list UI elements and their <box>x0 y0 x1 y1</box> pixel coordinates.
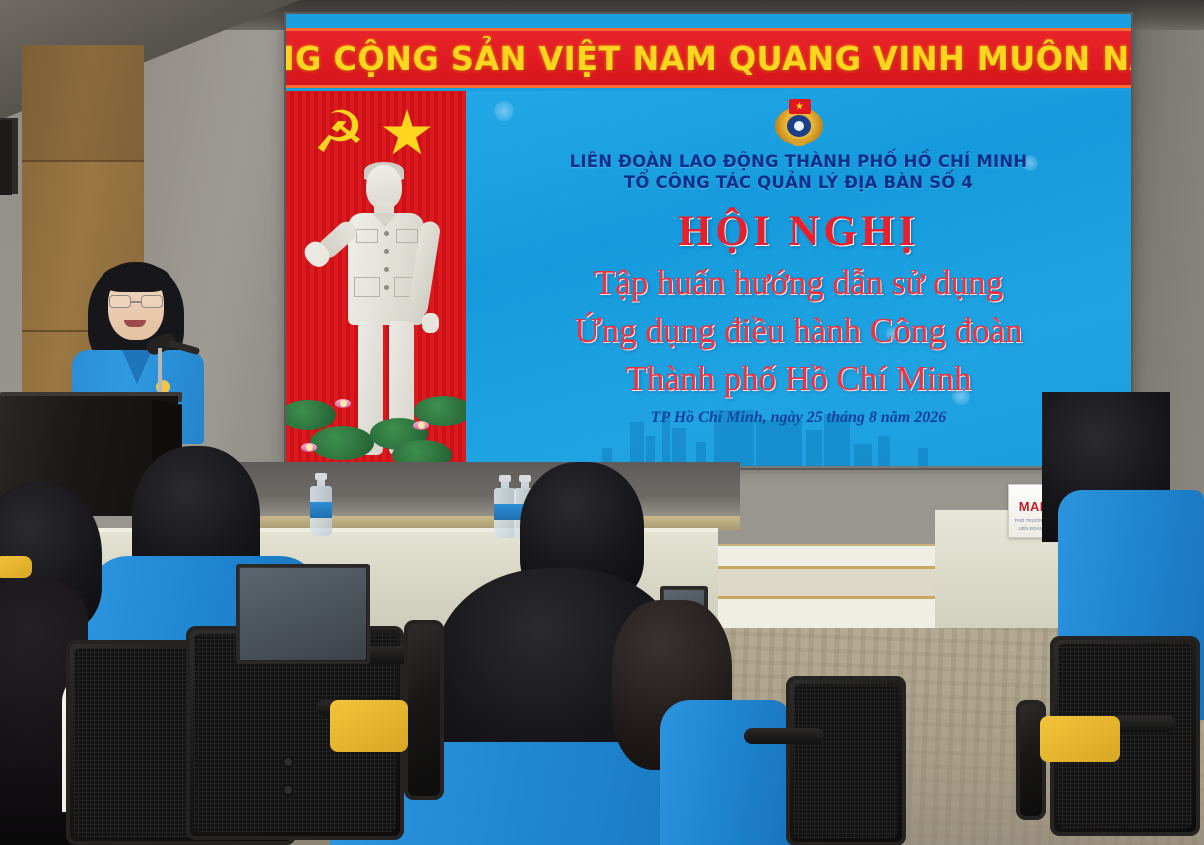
slide-title-line-1: Tập huấn hướng dẫn sử dụng <box>466 263 1131 303</box>
slide-red-motif-panel: ☭ <box>286 91 466 466</box>
org-line-2: TỔ CÔNG TÁC QUẢN LÝ ĐỊA BÀN SỐ 4 <box>466 172 1131 193</box>
eyeglasses-icon <box>109 295 163 308</box>
vietnam-trade-union-emblem-icon <box>771 99 827 147</box>
stage-step-2 <box>718 566 948 596</box>
speaker-mouth <box>124 320 146 327</box>
water-bottle <box>494 476 516 538</box>
panel-seam <box>22 160 144 162</box>
light-bokeh <box>494 101 514 121</box>
slide-content-panel: LIÊN ĐOÀN LAO ĐỘNG THÀNH PHỐ HỒ CHÍ MINH… <box>466 91 1131 466</box>
office-chair[interactable] <box>786 676 906 845</box>
hammer-sickle-icon: ☭ <box>308 105 370 161</box>
banner-text: ĐẢNG CỘNG SẢN VIỆT NAM QUANG VINH MUÔN N… <box>286 39 1131 78</box>
led-presentation-screen: ĐẢNG CỘNG SẢN VIỆT NAM QUANG VINH MUÔN N… <box>286 14 1131 466</box>
stage-step-1 <box>718 544 948 566</box>
lotus-flowers <box>286 378 466 466</box>
slide-top-banner: ĐẢNG CỘNG SẢN VIỆT NAM QUANG VINH MUÔN N… <box>286 28 1131 88</box>
speaker-fringe <box>102 264 170 292</box>
stage-step-3 <box>718 596 948 630</box>
yellow-star-icon <box>382 109 432 159</box>
yellow-bag <box>330 700 408 752</box>
hair-accessory <box>0 556 32 578</box>
office-chair[interactable] <box>404 620 444 800</box>
laptop-screen[interactable] <box>236 564 370 664</box>
slide-title-main: HỘI NGHỊ <box>466 207 1131 256</box>
org-line-1: LIÊN ĐOÀN LAO ĐỘNG THÀNH PHỐ HỒ CHÍ MINH <box>466 151 1131 172</box>
water-bottle <box>310 474 332 536</box>
organization-heading: LIÊN ĐOÀN LAO ĐỘNG THÀNH PHỐ HỒ CHÍ MINH… <box>466 151 1131 193</box>
city-skyline-graphic <box>466 396 1131 466</box>
slide-title-line-2: Ứng dụng điều hành Công đoàn <box>466 311 1131 351</box>
yellow-bag <box>1040 716 1120 762</box>
conference-room-scene: ĐẢNG CỘNG SẢN VIỆT NAM QUANG VINH MUÔN N… <box>0 0 1204 845</box>
doorway-dark <box>0 120 12 195</box>
slide-title-line-3: Thành phố Hồ Chí Minh <box>466 359 1131 399</box>
